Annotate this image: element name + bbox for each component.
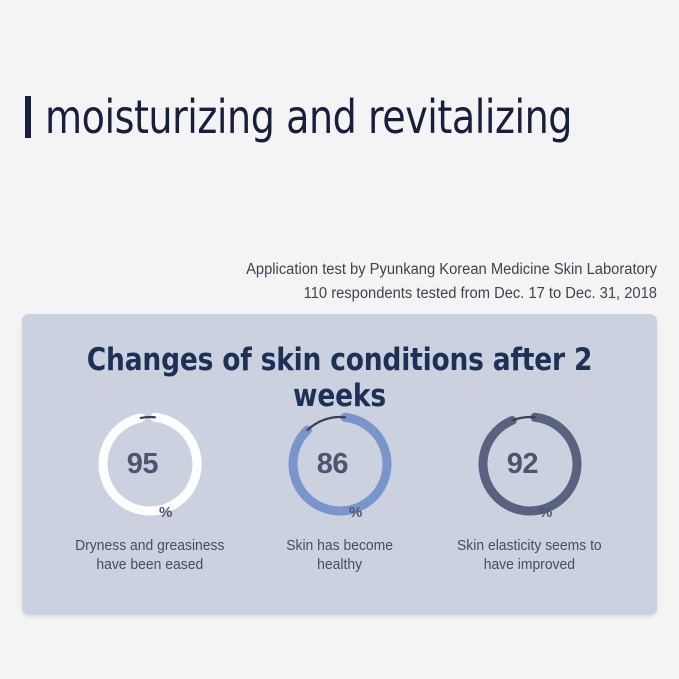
stat-caption: Skin has become healthy: [286, 537, 393, 575]
study-credit-line-1: Application test by Pyunkang Korean Medi…: [125, 258, 657, 282]
stat-caption-line-1: Skin has become: [286, 537, 393, 556]
headline-part-and: and: [274, 90, 368, 144]
stat-caption-line-1: Dryness and greasiness: [75, 537, 224, 556]
stat-caption-line-2: healthy: [286, 556, 393, 575]
stat-item: 92 % Skin elasticity seems to have impro…: [435, 406, 625, 575]
donut-chart-healthy: 86 %: [282, 406, 398, 522]
stat-caption-line-2: have improved: [457, 556, 602, 575]
stat-caption: Dryness and greasiness have been eased: [75, 537, 224, 575]
headline-part-revitalizing: revitalizing: [368, 90, 572, 144]
stat-caption-line-1: Skin elasticity seems to: [457, 537, 602, 556]
stat-caption-line-2: have been eased: [75, 556, 224, 575]
headline-text: moisturizing and revitalizing: [45, 94, 572, 140]
headline-part-moisturizing: moisturizing: [45, 90, 274, 144]
panel-title: Changes of skin conditions after 2 weeks: [38, 342, 641, 414]
stat-item: 95 % Dryness and greasiness have been ea…: [55, 406, 245, 575]
stats-row: 95 % Dryness and greasiness have been ea…: [22, 406, 657, 575]
study-credit-line-2: 110 respondents tested from Dec. 17 to D…: [125, 282, 657, 306]
study-credit: Application test by Pyunkang Korean Medi…: [125, 258, 657, 305]
donut-arc: [98, 412, 201, 515]
donut-chart-elasticity: 92 %: [472, 406, 588, 522]
donut-svg: [282, 406, 398, 522]
donut-arc: [478, 412, 581, 515]
headline-accent-bar: [25, 96, 31, 138]
donut-chart-dryness: 95 %: [92, 406, 208, 522]
donut-svg: [472, 406, 588, 522]
donut-arc: [288, 412, 391, 515]
page-headline: moisturizing and revitalizing: [25, 88, 618, 146]
results-panel: Changes of skin conditions after 2 weeks…: [22, 314, 657, 615]
donut-svg: [92, 406, 208, 522]
stat-item: 86 % Skin has become healthy: [245, 406, 435, 575]
stat-caption: Skin elasticity seems to have improved: [457, 537, 602, 575]
